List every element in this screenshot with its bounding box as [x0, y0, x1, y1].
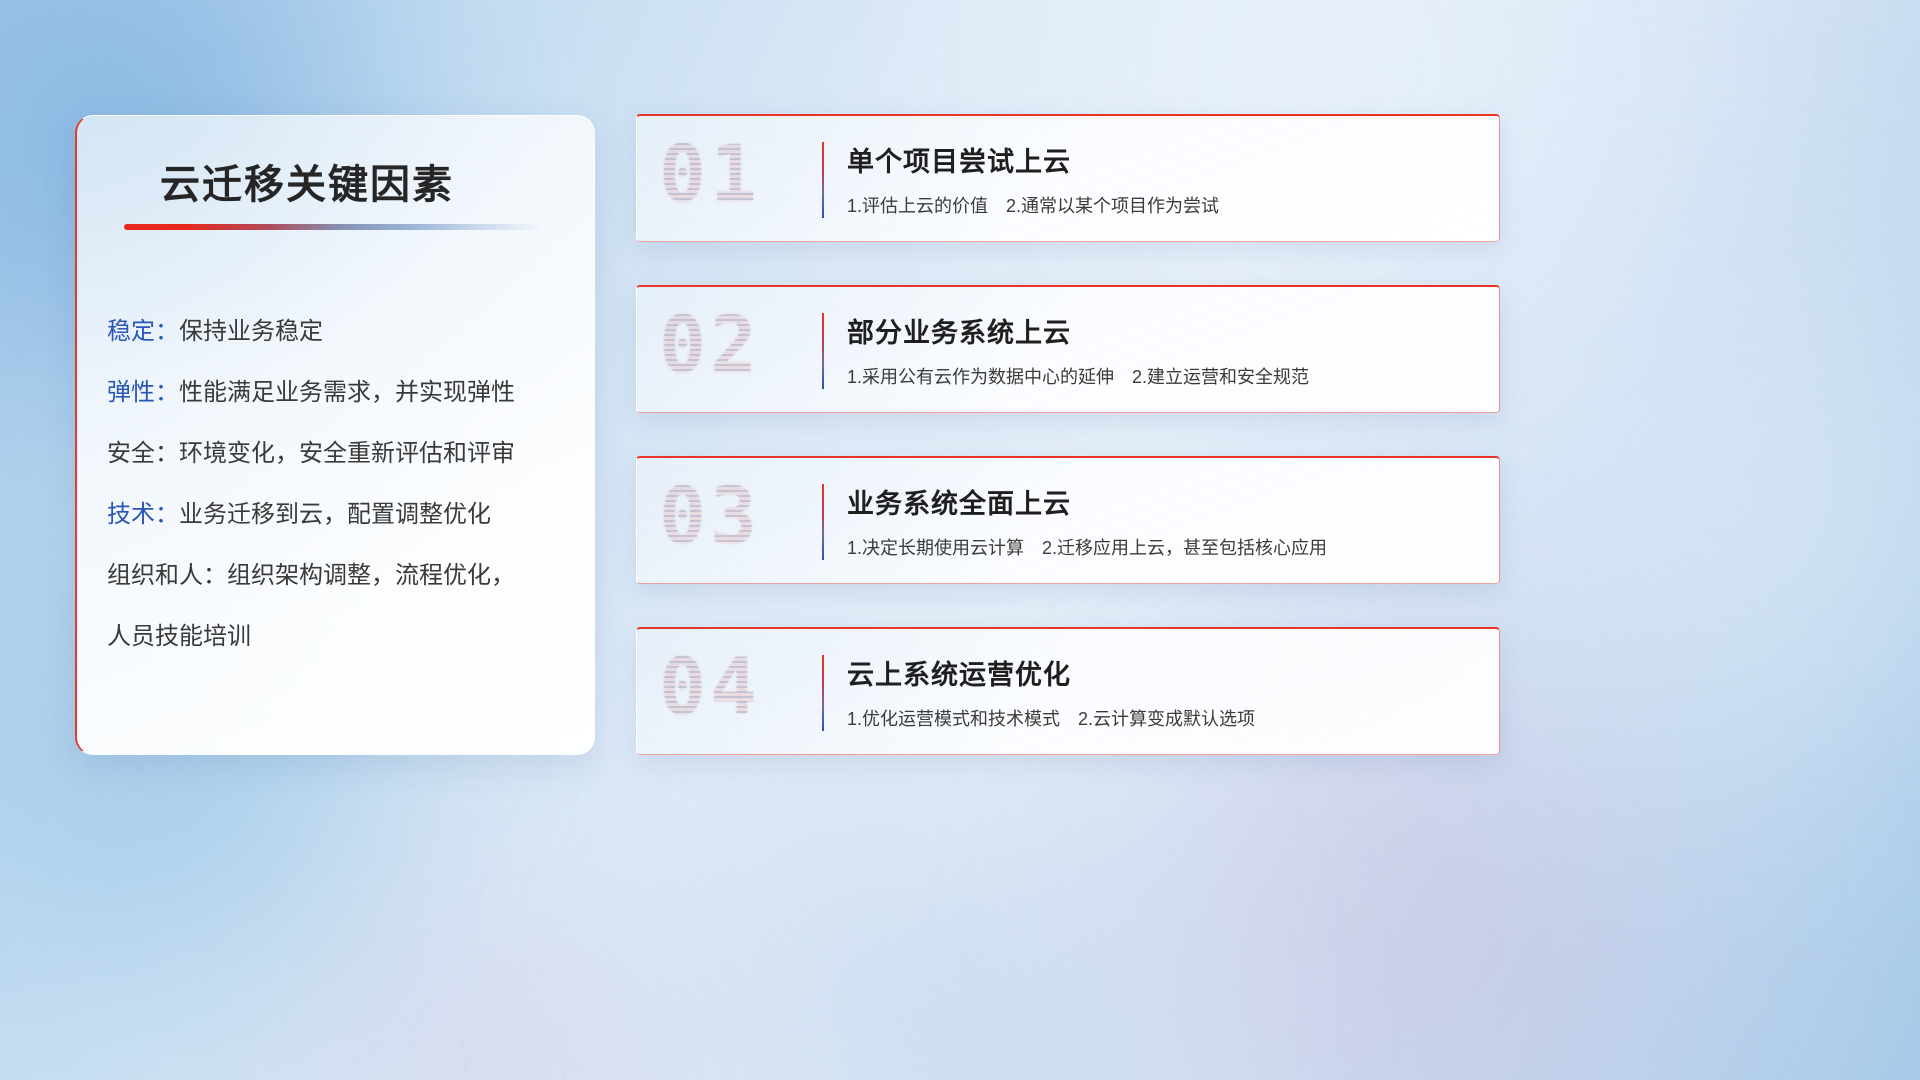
stage-number: 03 [659, 472, 761, 562]
stage-description: 1.评估上云的价值 2.通常以某个项目作为尝试 [847, 192, 1219, 218]
key-factor-label: 安全： [107, 440, 179, 467]
key-factor-value: 保持业务稳定 [179, 318, 323, 345]
stage-divider [822, 142, 824, 218]
stage-heading: 部分业务系统上云 [847, 311, 1071, 350]
key-factor-value: 性能满足业务需求，并实现弹性 [179, 379, 515, 406]
stage-number: 01 [659, 130, 761, 220]
key-factor-item: 稳定：保持业务稳定 [107, 301, 574, 362]
key-factors-list: 稳定：保持业务稳定弹性：性能满足业务需求，并实现弹性安全：环境变化，安全重新评估… [107, 301, 574, 667]
cloud-migration-stages: 0101单个项目尝试上云1.评估上云的价值 2.通常以某个项目作为尝试0202部… [636, 114, 1500, 798]
key-factor-label: 稳定： [107, 318, 179, 345]
key-factor-item: 技术：业务迁移到云，配置调整优化 [107, 484, 574, 545]
key-factors-panel: 云迁移关键因素 稳定：保持业务稳定弹性：性能满足业务需求，并实现弹性安全：环境变… [75, 115, 595, 755]
key-factor-value: 组织架构调整，流程优化， [227, 562, 515, 589]
stage-card[interactable]: 0101单个项目尝试上云1.评估上云的价值 2.通常以某个项目作为尝试 [636, 114, 1500, 242]
page-title: 云迁移关键因素 [160, 152, 454, 210]
key-factor-value: 环境变化，安全重新评估和评审 [179, 440, 515, 467]
key-factor-label: 技术： [107, 501, 179, 528]
key-factor-value: 人员技能培训 [107, 623, 251, 650]
stage-heading: 单个项目尝试上云 [847, 140, 1071, 179]
key-factor-item: 弹性：性能满足业务需求，并实现弹性 [107, 362, 574, 423]
stage-divider [822, 484, 824, 560]
stage-description: 1.决定长期使用云计算 2.迁移应用上云，甚至包括核心应用 [847, 534, 1327, 560]
key-factor-item: 安全：环境变化，安全重新评估和评审 [107, 423, 574, 484]
key-factor-label: 组织和人： [107, 562, 227, 589]
stage-divider [822, 655, 824, 731]
stage-card[interactable]: 0303业务系统全面上云1.决定长期使用云计算 2.迁移应用上云，甚至包括核心应… [636, 456, 1500, 584]
stage-description: 1.采用公有云作为数据中心的延伸 2.建立运营和安全规范 [847, 363, 1309, 389]
title-underline-rule [124, 224, 544, 230]
stage-number: 04 [659, 643, 761, 733]
stage-number: 02 [659, 301, 761, 391]
key-factor-item: 组织和人：组织架构调整，流程优化， [107, 545, 574, 606]
stage-heading: 业务系统全面上云 [847, 482, 1071, 521]
stage-divider [822, 313, 824, 389]
stage-card[interactable]: 0202部分业务系统上云1.采用公有云作为数据中心的延伸 2.建立运营和安全规范 [636, 285, 1500, 413]
key-factor-label: 弹性： [107, 379, 179, 406]
stage-card[interactable]: 0404云上系统运营优化1.优化运营模式和技术模式 2.云计算变成默认选项 [636, 627, 1500, 755]
stage-heading: 云上系统运营优化 [847, 653, 1071, 692]
key-factor-item: 人员技能培训 [107, 606, 574, 667]
stage-description: 1.优化运营模式和技术模式 2.云计算变成默认选项 [847, 705, 1255, 731]
key-factor-value: 业务迁移到云，配置调整优化 [179, 501, 491, 528]
